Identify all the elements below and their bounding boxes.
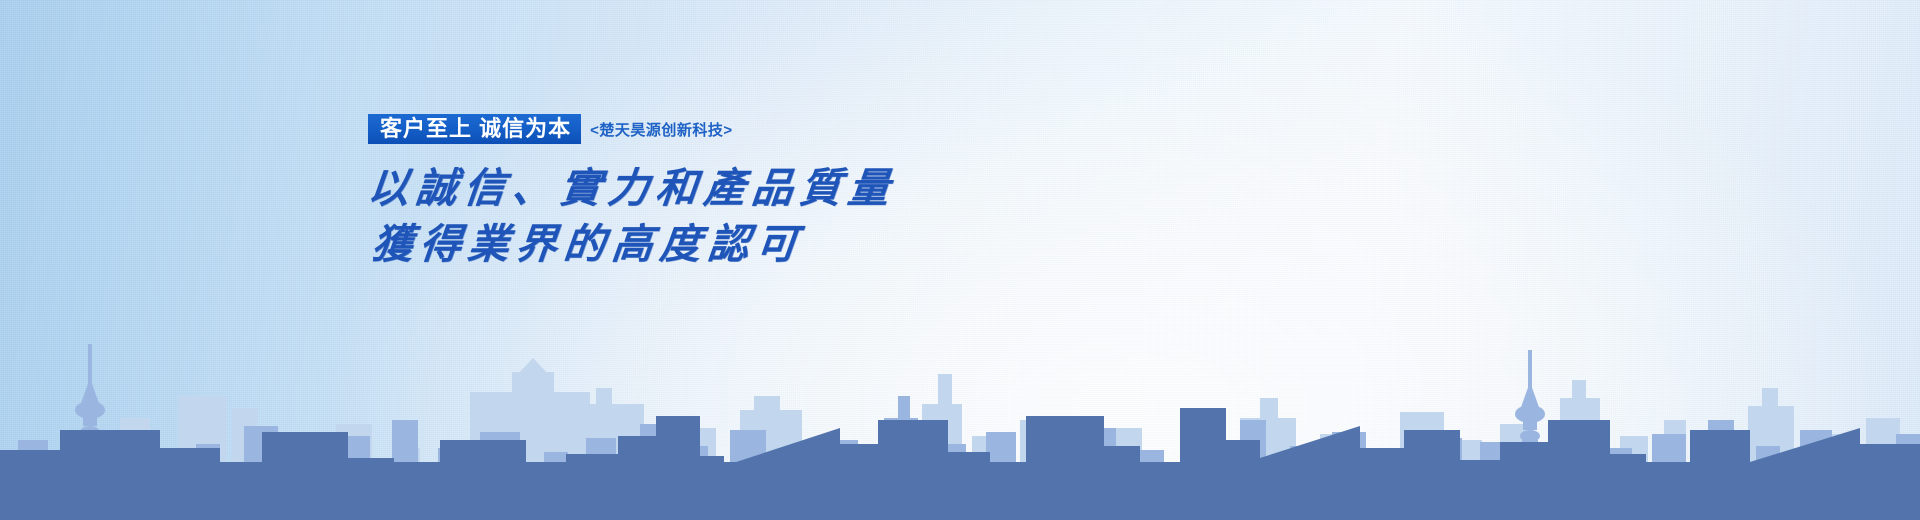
tagline-badge: 客户至上 诚信为本 [368,114,581,144]
tagline-row: 客户至上 诚信为本 <楚天昊源创新科技> [368,110,896,148]
banner-text-block: 客户至上 诚信为本 <楚天昊源创新科技> 以誠信、實力和產品質量 獲得業界的高度… [368,110,896,272]
headline-line-2: 獲得業界的高度認可 [369,216,899,272]
city-skyline-front-layer [0,370,1920,520]
company-name-label: <楚天昊源创新科技> [590,119,733,140]
headline-block: 以誠信、實力和產品質量 獲得業界的高度認可 [368,160,896,272]
headline-line-1: 以誠信、實力和產品質量 [365,160,899,216]
hero-banner: 客户至上 诚信为本 <楚天昊源创新科技> 以誠信、實力和產品質量 獲得業界的高度… [0,0,1920,520]
